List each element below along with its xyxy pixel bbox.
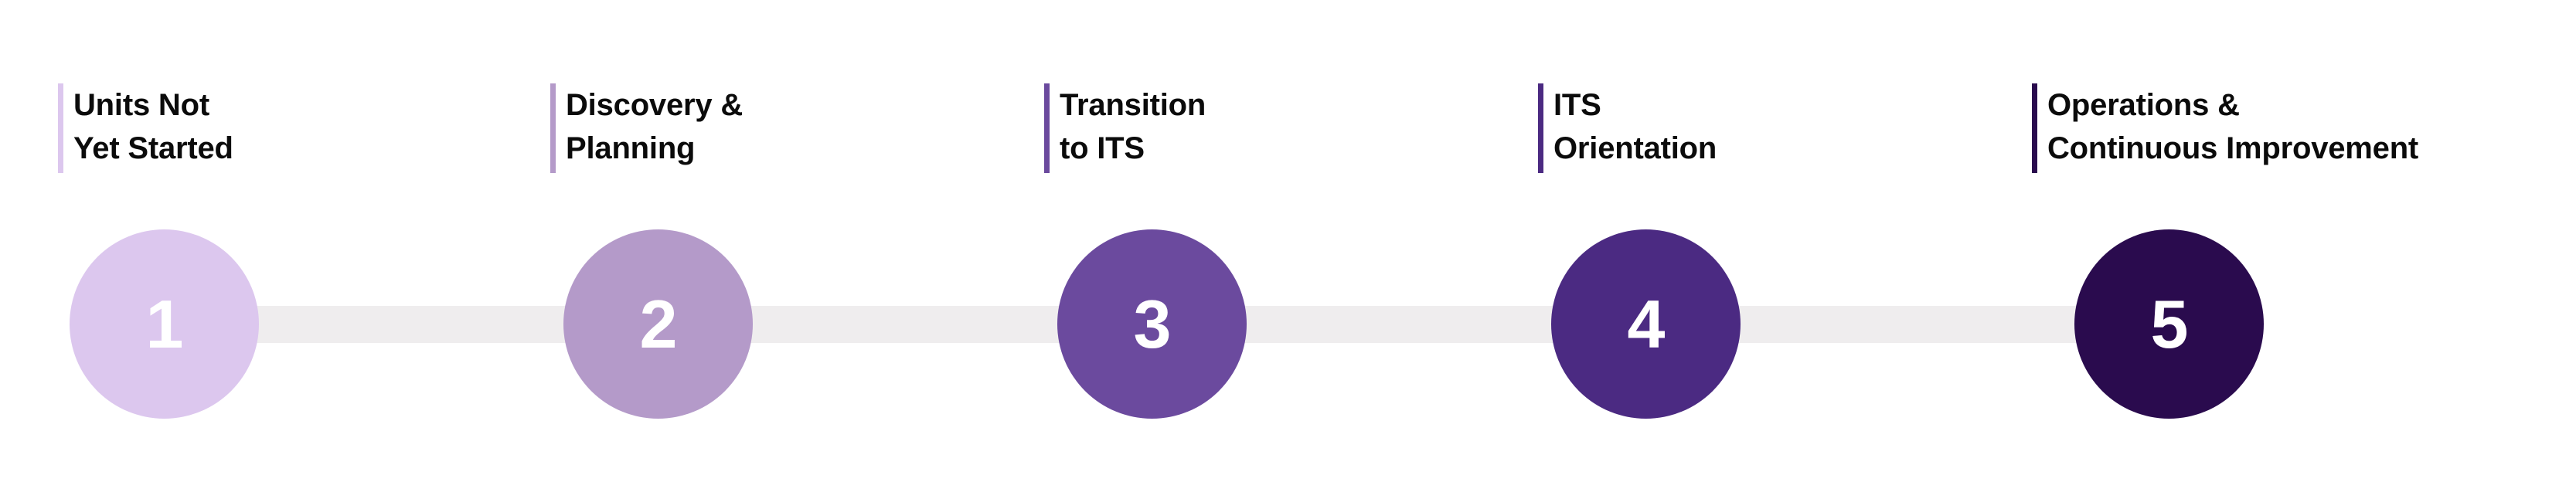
connector-segment-1-2 (247, 306, 574, 343)
stage-circle-1[interactable]: 1 (70, 229, 259, 419)
stage-label-line2-4: Orientation (1553, 131, 1717, 165)
accent-bar-icon-1 (58, 83, 63, 173)
stage-label-line1-2: Discovery & (566, 88, 743, 122)
stage-number-1: 1 (146, 290, 183, 358)
stage-circle-3[interactable]: 3 (1057, 229, 1247, 419)
stage-circle-5[interactable]: 5 (2074, 229, 2264, 419)
stage-label-1: Units Not Yet Started (58, 83, 233, 173)
stage-label-line2-3: to ITS (1060, 131, 1145, 165)
connector-segment-4-5 (1729, 306, 2085, 343)
stage-label-line2-2: Planning (566, 131, 695, 165)
stage-number-3: 3 (1134, 290, 1171, 358)
connector-segment-2-3 (741, 306, 1068, 343)
stage-label-text-1: Units Not Yet Started (73, 83, 233, 173)
stage-number-4: 4 (1628, 290, 1665, 358)
stage-label-text-5: Operations & Continuous Improvement (2047, 83, 2418, 173)
stage-label-text-2: Discovery & Planning (566, 83, 743, 173)
stage-label-text-4: ITS Orientation (1553, 83, 1717, 173)
stage-label-line1-1: Units Not (73, 88, 209, 122)
stage-label-5: Operations & Continuous Improvement (2032, 83, 2418, 173)
stage-label-line2-5: Continuous Improvement (2047, 131, 2418, 165)
accent-bar-icon-5 (2032, 83, 2037, 173)
stage-number-2: 2 (640, 290, 677, 358)
stage-label-3: Transition to ITS (1044, 83, 1206, 173)
stage-labels: Units Not Yet Started Discovery & Planni… (0, 0, 2576, 232)
stage-circle-2[interactable]: 2 (563, 229, 753, 419)
stage-progress-tracker: 1 2 3 4 5 Units Not Yet Started Discover… (0, 0, 2576, 499)
accent-bar-icon-3 (1044, 83, 1050, 173)
accent-bar-icon-4 (1538, 83, 1543, 173)
stage-label-line1-3: Transition (1060, 88, 1206, 122)
stage-label-text-3: Transition to ITS (1060, 83, 1206, 173)
stage-circle-4[interactable]: 4 (1551, 229, 1741, 419)
connector-segment-3-4 (1235, 306, 1562, 343)
stage-label-line2-1: Yet Started (73, 131, 233, 165)
stage-label-line1-4: ITS (1553, 88, 1601, 122)
stage-label-4: ITS Orientation (1538, 83, 1717, 173)
stage-number-5: 5 (2151, 290, 2188, 358)
stage-label-line1-5: Operations & (2047, 88, 2240, 122)
stage-label-2: Discovery & Planning (550, 83, 743, 173)
accent-bar-icon-2 (550, 83, 556, 173)
